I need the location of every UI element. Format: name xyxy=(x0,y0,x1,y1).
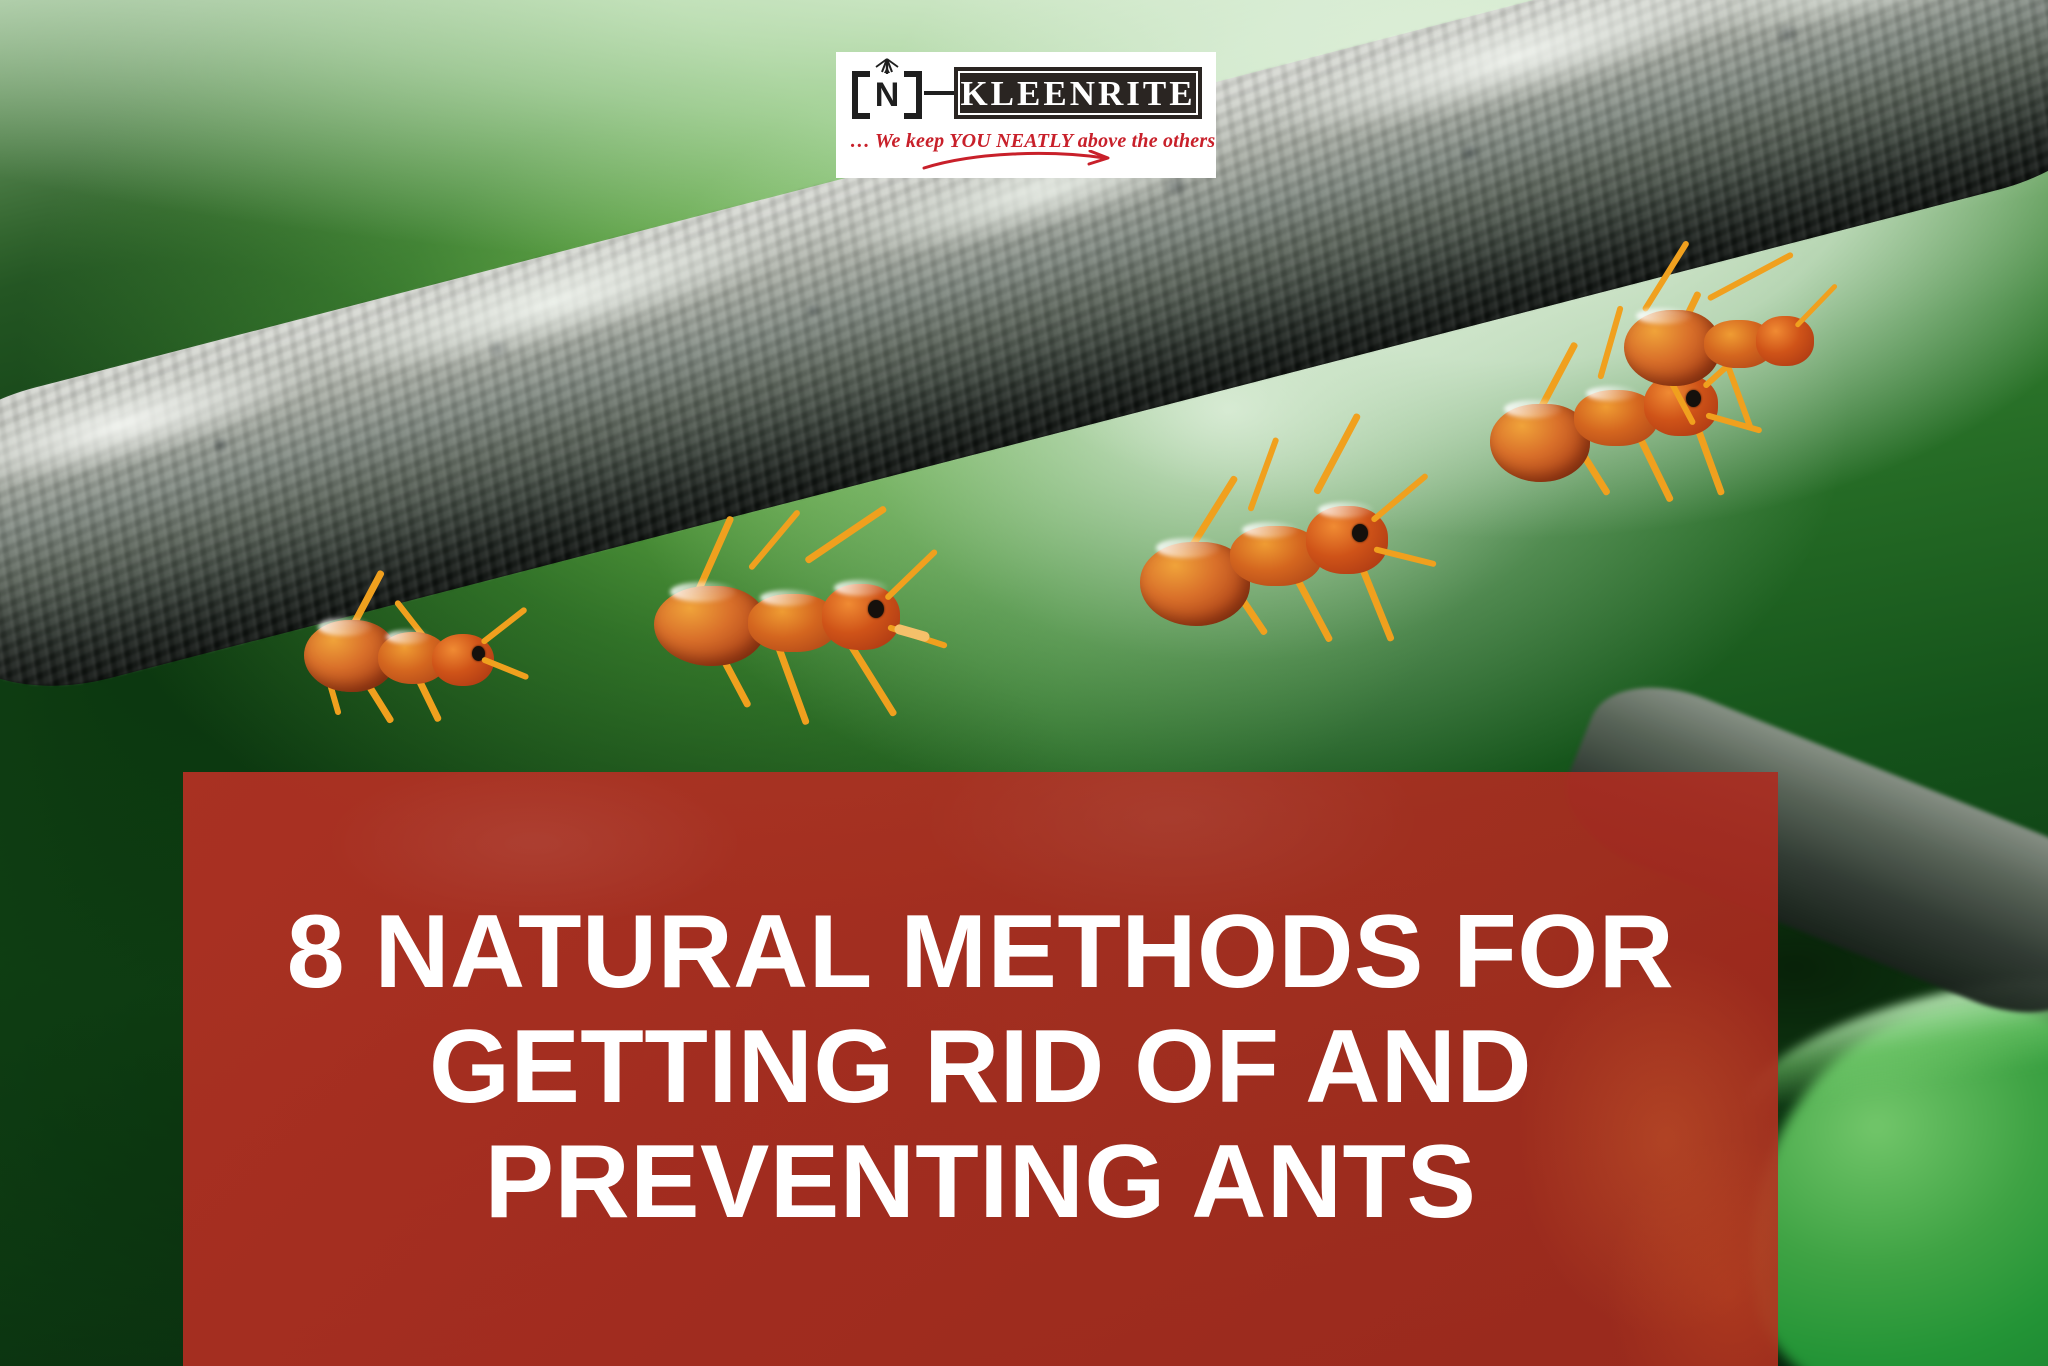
logo-connector-line xyxy=(924,91,954,95)
logo-wordmark-block: KLEENRITE xyxy=(954,67,1202,119)
title-line-2: GETTING RID OF AND xyxy=(183,1010,1778,1125)
ant-second-left xyxy=(610,550,950,730)
ant-head xyxy=(1756,316,1814,366)
title-line-1: 8 NATURAL METHODS FOR xyxy=(183,895,1778,1010)
ant-mandible xyxy=(893,623,930,643)
logo-tagline-text: … We keep YOU NEATLY above the others xyxy=(850,130,1215,152)
ant-left-partial xyxy=(300,590,540,740)
ant-highlight xyxy=(760,590,816,606)
ant-antenna xyxy=(884,548,939,601)
logo-wordmark-text: KLEENRITE xyxy=(960,76,1195,111)
logo-tagline: … We keep YOU NEATLY above the others xyxy=(850,130,1202,153)
ant-antenna xyxy=(1794,283,1838,328)
sprout-in-brackets-icon: N xyxy=(850,65,924,121)
ant-antenna xyxy=(1370,472,1429,523)
swoosh-arrow-icon xyxy=(920,150,1120,172)
ant-eye xyxy=(1352,524,1368,542)
logo-letter: N xyxy=(850,71,924,119)
title-line-3: PREVENTING ANTS xyxy=(183,1125,1778,1240)
poster-canvas: 8 NATURAL METHODS FOR GETTING RID OF AND… xyxy=(0,0,2048,1366)
ant-top-right xyxy=(1540,290,1840,470)
brand-logo[interactable]: N KLEENRITE … We keep YOU NEATLY above t… xyxy=(836,52,1216,178)
page-title: 8 NATURAL METHODS FOR GETTING RID OF AND… xyxy=(183,895,1778,1240)
ant-highlight xyxy=(1636,308,1692,324)
ant-eye xyxy=(868,600,884,618)
ant-highlight xyxy=(318,618,372,636)
ant-center xyxy=(1130,450,1460,650)
ant-highlight xyxy=(386,630,430,644)
ant-highlight xyxy=(1318,502,1374,518)
ant-highlight xyxy=(1156,538,1220,558)
logo-top-row: N KLEENRITE xyxy=(850,62,1202,124)
ant-highlight xyxy=(670,582,736,602)
ant-highlight xyxy=(834,580,888,596)
ant-leg xyxy=(775,644,810,725)
ant-highlight xyxy=(1242,522,1298,538)
ant-antenna xyxy=(480,606,528,645)
